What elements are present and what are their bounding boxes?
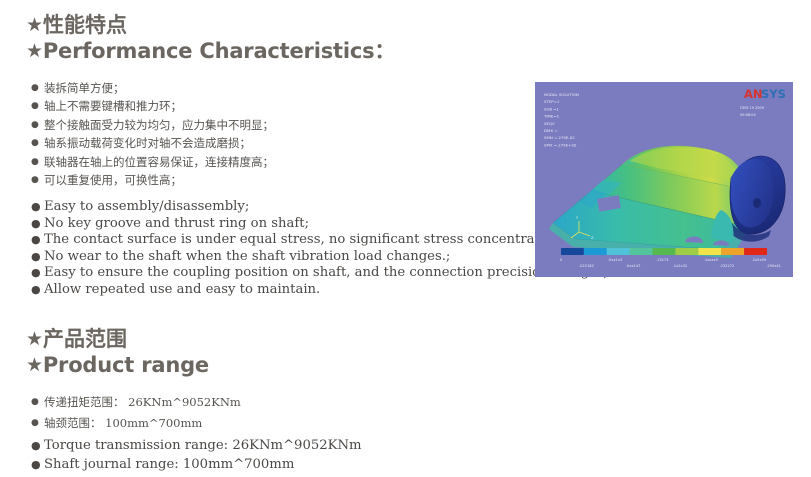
performance-bullet-en-item: ●No key groove and thrust ring on shaft; <box>31 216 615 233</box>
performance-bullets-cn: ●装拆简单方便；●轴上不需要键槽和推力环；●整个接触面受力较为均匀，应力集中不明… <box>31 79 274 189</box>
bullet-icon: ● <box>31 171 39 189</box>
performance-heading-en-text: Performance Characteristics： <box>43 39 395 63</box>
figure-header-line: SMN =.279E-02 <box>544 135 575 140</box>
legend-tick-lower: .1x2x32 <box>673 264 688 268</box>
product-range-bullet-en-label: Torque transmission range: <box>44 438 232 453</box>
performance-heading-group: ★性能特点 ★Performance Characteristics： <box>26 13 395 65</box>
product-range-bullet-en-item: ●Shaft journal range: 100mm^700mm <box>31 456 362 475</box>
product-range-bullet-en-value: 26KNm^9052KNm <box>232 438 361 453</box>
performance-heading-cn: ★性能特点 <box>26 13 395 38</box>
product-range-bullet-cn-value: 26KNm^9052KNm <box>128 395 241 409</box>
performance-bullet-cn-item: ●装拆简单方便； <box>31 79 274 97</box>
performance-bullet-cn-text: 可以重复使用，可换性高； <box>44 173 182 187</box>
figure-header-line: SMX =.279E+00 <box>544 142 577 147</box>
legend-tick-lower: .290x41 <box>766 264 781 268</box>
performance-bullet-en-item: ●Allow repeated use and easy to maintain… <box>31 282 615 299</box>
performance-bullet-cn-text: 轴系振动载荷变化时对轴不会造成磨损； <box>44 136 251 150</box>
performance-bullet-en-text: Easy to assembly/disassembly; <box>44 199 249 214</box>
bullet-icon: ● <box>31 392 39 413</box>
legend-color-segment <box>698 248 721 255</box>
performance-bullet-cn-text: 轴上不需要键槽和推力环； <box>44 99 182 113</box>
star-icon: ★ <box>26 16 43 35</box>
bullet-icon: ● <box>31 413 39 434</box>
legend-color-segment <box>607 248 630 255</box>
performance-bullet-cn-text: 装拆简单方便； <box>44 81 125 95</box>
bullet-icon: ● <box>31 134 39 152</box>
performance-bullets-en: ●Easy to assembly/disassembly;●No key gr… <box>31 199 615 299</box>
legend-tick-lower: .0xx147 <box>626 264 641 268</box>
figure-header-line: STEP=1 <box>544 99 560 104</box>
ansys-fea-figure: Z Y NODAL SOLUTIONSTEP=1SUB =1TIME=1SEQV… <box>535 82 793 277</box>
product-range-bullet-cn-value: 100mm^700mm <box>105 416 202 430</box>
legend-color-segment <box>675 248 698 255</box>
performance-bullet-cn-item: ●整个接触面受力较为均匀，应力集中不明显； <box>31 116 274 134</box>
legend-color-segment <box>653 248 676 255</box>
performance-bullet-cn-item: ●轴系振动载荷变化时对轴不会造成磨损； <box>31 134 274 152</box>
product-range-bullets-en: ●Torque transmission range: 26KNm^9052KN… <box>31 437 362 474</box>
performance-bullet-en-item: ●Easy to ensure the coupling position on… <box>31 265 615 282</box>
legend-color-segment <box>744 248 767 255</box>
bullet-icon: ● <box>31 437 41 456</box>
performance-bullet-cn-item: ●联轴器在轴上的位置容易保证，连接精度高； <box>31 153 274 171</box>
figure-header-line: SUB =1 <box>544 106 559 111</box>
product-range-bullet-en-value: 100mm^700mm <box>183 457 294 472</box>
bullet-icon: ● <box>31 282 41 299</box>
product-range-heading-group: ★产品范围 ★Product range <box>26 327 209 379</box>
ansys-logo-sys: SYS <box>761 87 786 101</box>
product-range-bullet-en-label: Shaft journal range: <box>44 457 183 472</box>
product-range-bullets-cn: ●传递扭矩范围： 26KNm^9052KNm●轴颈范围： 100mm^700mm <box>31 392 241 434</box>
figure-header-line: DMX = <box>544 128 558 133</box>
bullet-icon: ● <box>31 232 41 249</box>
bullet-icon: ● <box>31 456 41 475</box>
bullet-icon: ● <box>31 249 41 266</box>
legend-color-segment <box>630 248 653 255</box>
product-range-bullet-en-item: ●Torque transmission range: 26KNm^9052KN… <box>31 437 362 456</box>
bullet-icon: ● <box>31 153 39 171</box>
figure-header-right-line: 09:08:04 <box>740 113 756 117</box>
performance-bullet-en-text: Allow repeated use and easy to maintain. <box>44 282 320 297</box>
legend-tick-lower: .022182 <box>579 264 594 268</box>
ansys-logo-an: AN <box>744 87 763 101</box>
figure-header-right-line: ITEM 19 2009 <box>740 106 764 110</box>
product-range-heading-cn-text: 产品范围 <box>43 327 127 351</box>
star-icon: ★ <box>26 330 43 349</box>
ansys-logo: AN SYS <box>744 87 786 101</box>
performance-bullet-cn-text: 整个接触面受力较为均匀，应力集中不明显； <box>44 118 274 132</box>
performance-bullet-cn-item: ●可以重复使用，可换性高； <box>31 171 274 189</box>
performance-bullet-en-text: The contact surface is under equal stres… <box>44 232 565 247</box>
star-icon: ★ <box>26 42 43 61</box>
performance-bullet-en-text: No key groove and thrust ring on shaft; <box>44 216 309 231</box>
legend-tick-upper: .0xx1x3 <box>608 258 622 262</box>
bullet-icon: ● <box>31 97 39 115</box>
bullet-icon: ● <box>31 199 41 216</box>
product-range-bullet-cn-label: 传递扭矩范围： <box>44 395 128 409</box>
performance-bullet-cn-text: 联轴器在轴上的位置容易保证，连接精度高； <box>44 155 274 169</box>
product-range-bullet-cn-item: ●传递扭矩范围： 26KNm^9052KNm <box>31 392 241 413</box>
legend-color-segment <box>721 248 744 255</box>
performance-bullet-en-item: ●No wear to the shaft when the shaft vib… <box>31 249 615 266</box>
product-range-bullet-cn-label: 轴颈范围： <box>44 416 105 430</box>
star-icon: ★ <box>26 356 43 375</box>
bullet-icon: ● <box>31 265 41 282</box>
figure-header-line: SEQV <box>544 121 555 126</box>
bullet-icon: ● <box>31 116 39 134</box>
product-range-heading-en-text: Product range <box>43 353 209 377</box>
legend-color-bar <box>561 248 767 255</box>
product-range-heading-en: ★Product range <box>26 352 209 379</box>
performance-bullet-en-item: ●Easy to assembly/disassembly; <box>31 199 615 216</box>
legend-tick-upper: .1xxxx5 <box>704 258 718 262</box>
legend-color-segment <box>584 248 607 255</box>
legend-tick-upper: .2x5x59 <box>752 258 767 262</box>
bullet-icon: ● <box>31 216 41 233</box>
performance-bullet-en-text: Easy to ensure the coupling position on … <box>44 265 615 280</box>
bullet-icon: ● <box>31 79 39 97</box>
performance-heading-cn-text: 性能特点 <box>43 13 127 37</box>
legend-tick-lower: .232272 <box>719 264 734 268</box>
product-range-heading-cn: ★产品范围 <box>26 327 209 352</box>
legend-color-segment <box>561 248 584 255</box>
legend-tick-upper: .13273 <box>656 258 669 262</box>
figure-header-line: TIME=1 <box>543 114 560 119</box>
performance-bullet-en-item: ●The contact surface is under equal stre… <box>31 232 615 249</box>
performance-bullet-cn-item: ●轴上不需要键槽和推力环； <box>31 97 274 115</box>
product-range-bullet-cn-item: ●轴颈范围： 100mm^700mm <box>31 413 241 434</box>
performance-heading-en: ★Performance Characteristics： <box>26 38 395 65</box>
figure-header-line: NODAL SOLUTION <box>544 92 579 97</box>
performance-bullet-en-text: No wear to the shaft when the shaft vibr… <box>44 249 450 264</box>
